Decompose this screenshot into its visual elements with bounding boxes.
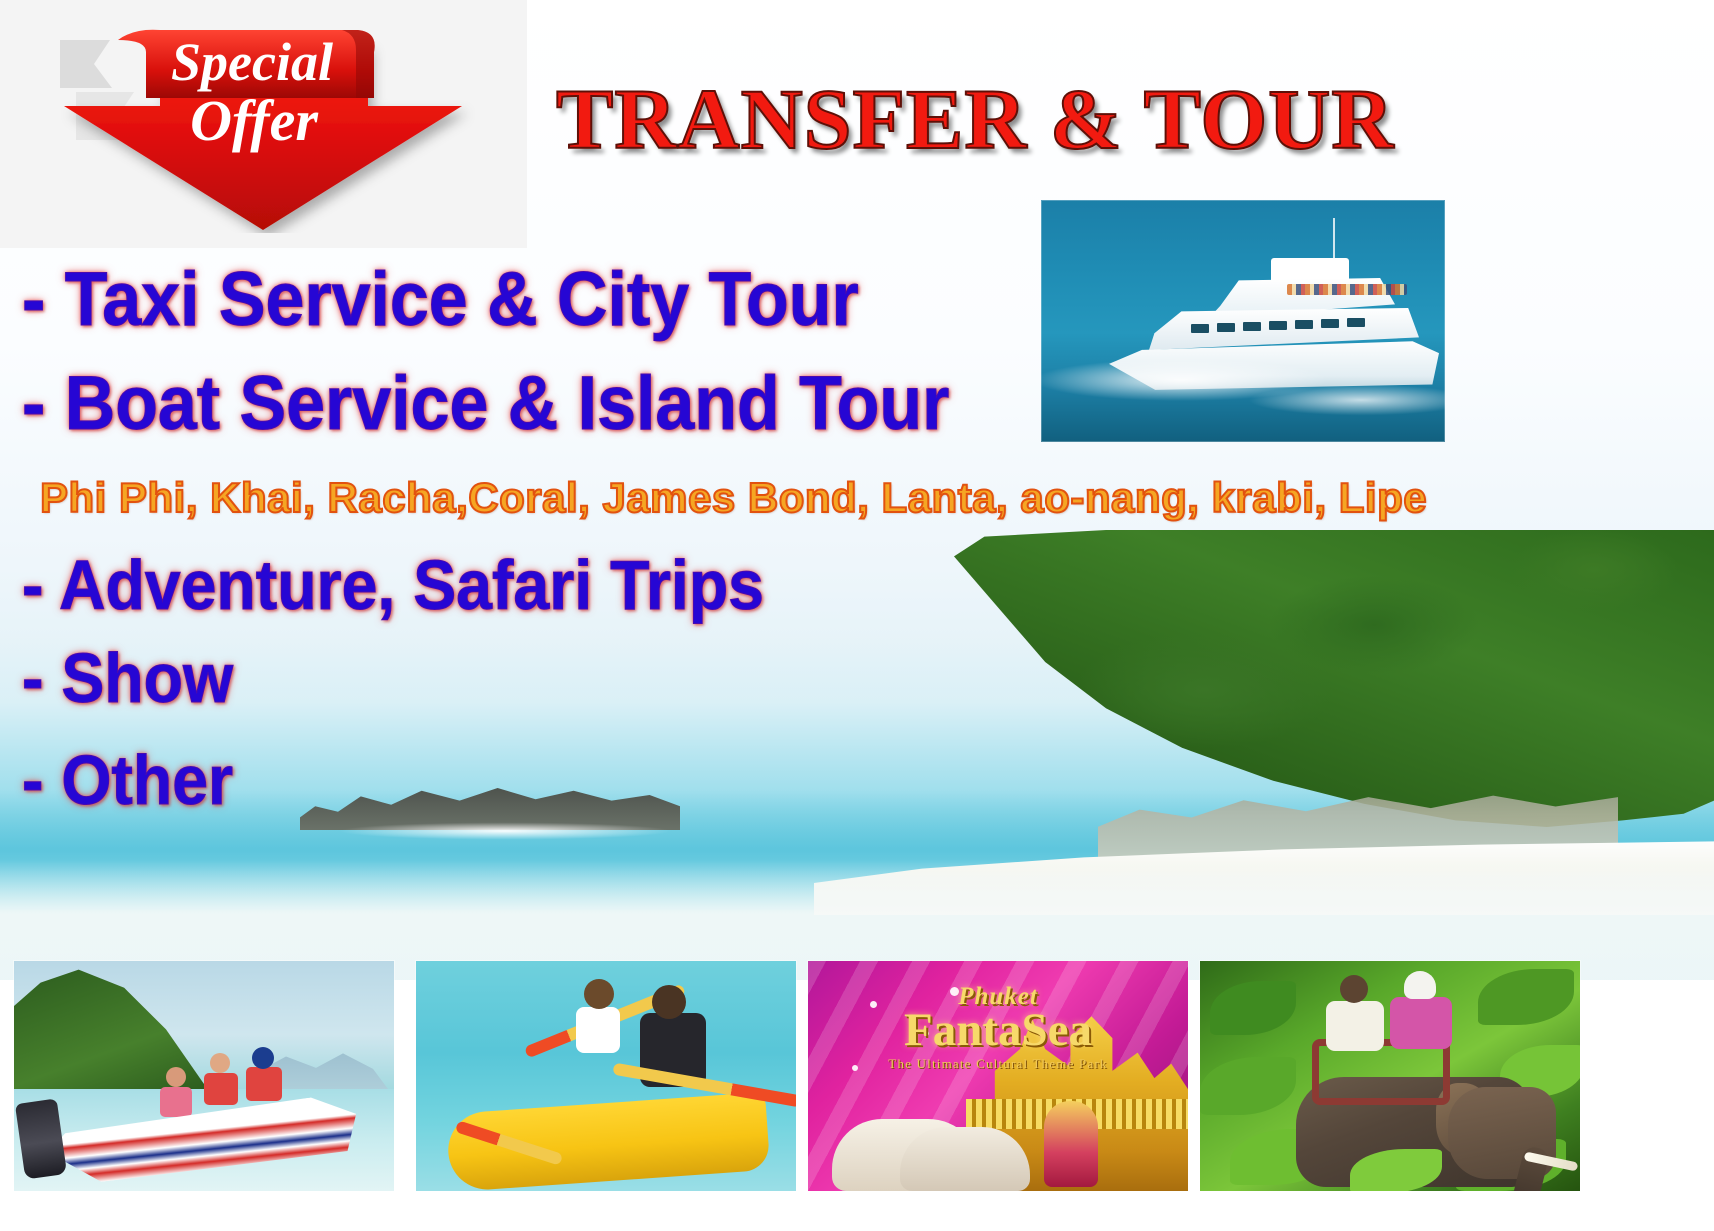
fantasea-logo: Phuket FantaSea The Ultimate Cultural Th… <box>808 983 1188 1072</box>
page-title: TRANSFER & TOUR <box>556 76 1395 162</box>
yacht-wake <box>1041 330 1445 440</box>
down-arrow-icon: Special Offer <box>42 18 482 233</box>
special-offer-badge: Special Offer <box>0 0 527 248</box>
gallery-photo-fantasea: Phuket FantaSea The Ultimate Cultural Th… <box>808 961 1188 1191</box>
island-destinations-list: Phi Phi, Khai, Racha,Coral, James Bond, … <box>40 474 1427 522</box>
service-item-show: - Show <box>22 638 233 718</box>
service-item-adventure: - Adventure, Safari Trips <box>22 545 764 625</box>
service-item-boat: - Boat Service & Island Tour <box>22 360 949 447</box>
gallery-photo-speedboat <box>14 961 394 1191</box>
service-item-other: - Other <box>22 740 233 820</box>
gallery-photo-kayak <box>416 961 796 1191</box>
yacht-passengers <box>1287 284 1407 295</box>
badge-line1: Special <box>171 32 333 92</box>
service-item-taxi: - Taxi Service & City Tour <box>22 256 859 343</box>
hero-photo-yacht <box>1041 200 1445 442</box>
badge-line2: Offer <box>190 88 318 153</box>
gallery-strip: Phuket FantaSea The Ultimate Cultural Th… <box>0 961 1714 1191</box>
fantasea-brand-line2: FantaSea <box>808 1007 1188 1054</box>
poster-root: Special Offer TRANSFER & TOUR - Taxi Ser… <box>0 0 1714 1231</box>
gallery-photo-elephant-trek <box>1200 961 1580 1191</box>
fantasea-tagline: The Ultimate Cultural Theme Park <box>808 1056 1188 1072</box>
background-surf-foam <box>270 818 740 844</box>
